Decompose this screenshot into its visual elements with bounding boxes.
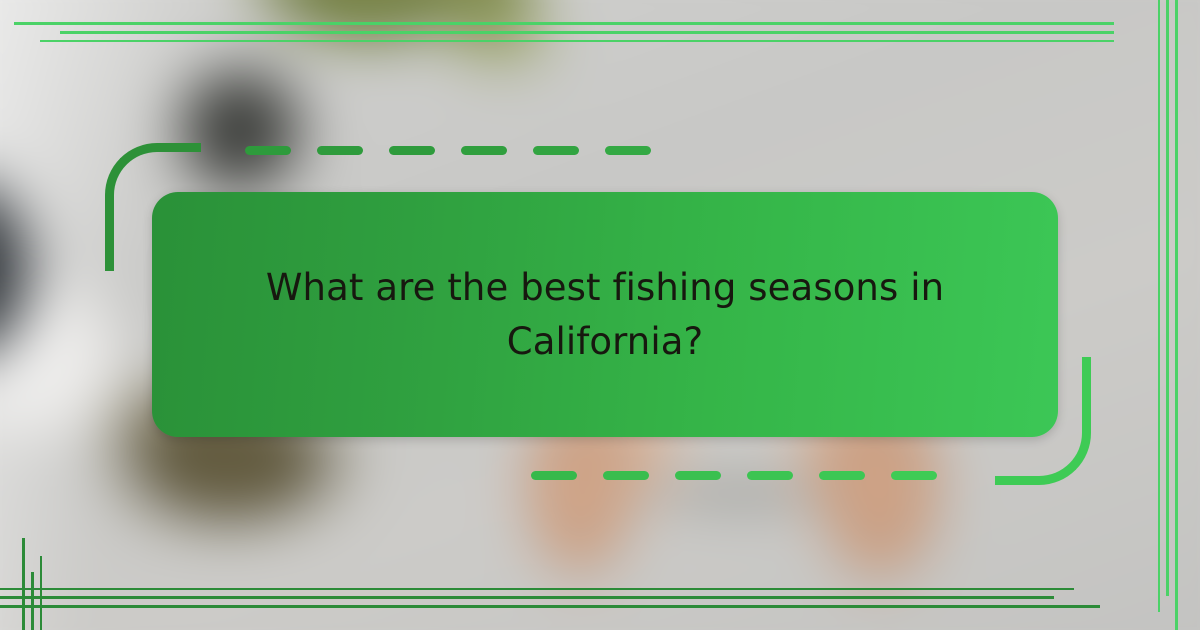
frame-line-v3 bbox=[1158, 0, 1160, 612]
screenshot-canvas: What are the best fishing seasons in Cal… bbox=[0, 0, 1200, 630]
dash-segment bbox=[747, 471, 793, 480]
frame-line-v1 bbox=[22, 538, 25, 630]
dash-segment bbox=[389, 146, 435, 155]
corner-frame-top-right bbox=[1108, 0, 1200, 92]
dash-segment bbox=[605, 146, 651, 155]
frame-line-h1 bbox=[14, 22, 1114, 25]
dashed-line-top bbox=[245, 146, 651, 155]
frame-line-v1 bbox=[1175, 0, 1178, 630]
dash-segment bbox=[819, 471, 865, 480]
dash-segment bbox=[675, 471, 721, 480]
dash-segment bbox=[533, 146, 579, 155]
dash-segment bbox=[531, 471, 577, 480]
frame-line-v3 bbox=[40, 556, 42, 630]
question-card: What are the best fishing seasons in Cal… bbox=[152, 192, 1058, 437]
frame-line-h2 bbox=[60, 31, 1114, 34]
frame-line-h3 bbox=[0, 588, 1074, 590]
dash-segment bbox=[245, 146, 291, 155]
dash-segment bbox=[461, 146, 507, 155]
question-title: What are the best fishing seasons in Cal… bbox=[210, 261, 1000, 368]
frame-line-v2 bbox=[1166, 0, 1169, 596]
frame-line-v2 bbox=[31, 572, 34, 630]
dashed-line-bottom bbox=[531, 471, 937, 480]
frame-line-h3 bbox=[40, 40, 1114, 42]
frame-line-h1 bbox=[0, 605, 1100, 608]
dash-segment bbox=[317, 146, 363, 155]
dash-segment bbox=[603, 471, 649, 480]
frame-line-h2 bbox=[0, 596, 1054, 599]
dash-segment bbox=[891, 471, 937, 480]
corner-frame-bottom-left bbox=[0, 538, 92, 630]
